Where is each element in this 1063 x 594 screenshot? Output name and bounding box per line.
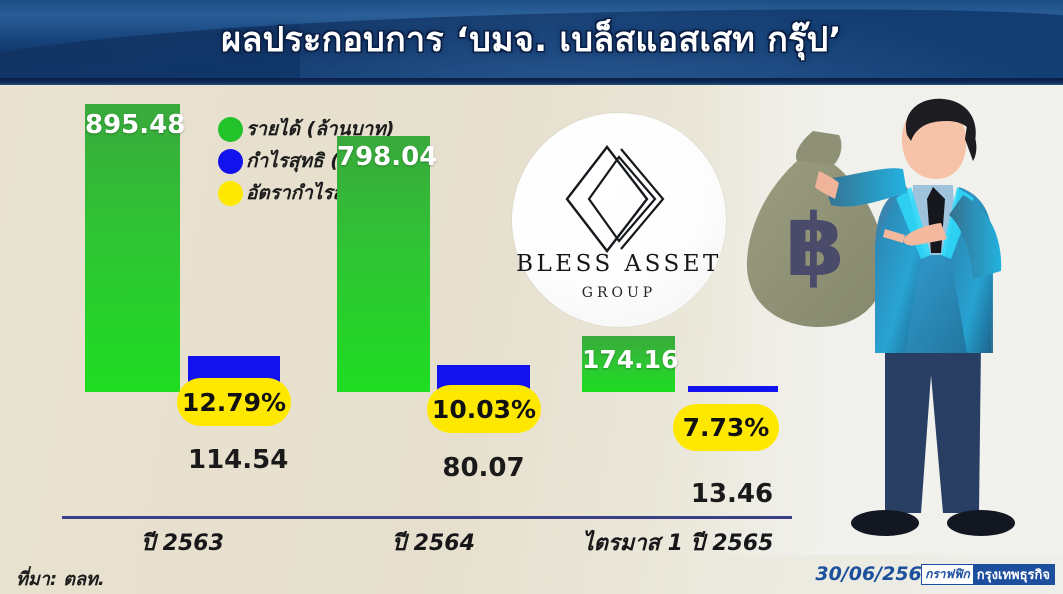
- pill-net-margin-2564: 10.03%: [427, 385, 541, 433]
- bar-revenue-2563: 895.48: [85, 104, 180, 392]
- infographic-page: ผลประกอบการ ‘บมจ. เบล็สแอสเสท กรุ๊ป’ ราย…: [0, 0, 1063, 594]
- bar-value-revenue-2564: 798.04: [337, 142, 430, 172]
- credit-badge: กราฟฟิก กรุงเทพธุรกิจ: [921, 564, 1055, 585]
- bar-value-revenue-2563: 895.48: [85, 110, 180, 140]
- svg-text:฿: ฿: [785, 196, 845, 296]
- credit-publisher-label: กรุงเทพธุรกิจ: [973, 565, 1054, 584]
- header-bottom-band: [0, 78, 1063, 85]
- bar-value-revenue-q1-2565: 174.16: [582, 345, 675, 374]
- pill-net-margin-2563: 12.79%: [177, 378, 291, 426]
- category-label-2564: ปี 2564: [337, 525, 530, 560]
- category-label-2563: ปี 2563: [85, 525, 280, 560]
- page-title: ผลประกอบการ ‘บมจ. เบล็สแอสเสท กรุ๊ป’: [0, 0, 1063, 78]
- pill-value-net-margin-2563: 12.79%: [182, 388, 286, 417]
- bar-revenue-2564: 798.04: [337, 136, 430, 392]
- businessman-illustration: ฿: [735, 95, 1063, 565]
- pill-value-net-margin-2564: 10.03%: [432, 395, 536, 424]
- money-bag-icon: ฿: [747, 131, 885, 327]
- publish-date: 30/06/2565: [815, 563, 935, 585]
- source-label: ที่มา: ตลท.: [16, 564, 105, 593]
- credit-graphic-label: กราฟฟิก: [922, 565, 973, 584]
- bar-revenue-q1-2565: 174.16: [582, 336, 675, 392]
- bar-value-net-profit-2564: 80.07: [437, 453, 530, 483]
- chart-baseline-axis: [62, 516, 792, 519]
- bar-chart: 895.48 114.54 12.79% ปี 2563 798.04 80.0…: [0, 85, 800, 555]
- bar-value-net-profit-2563: 114.54: [188, 445, 280, 475]
